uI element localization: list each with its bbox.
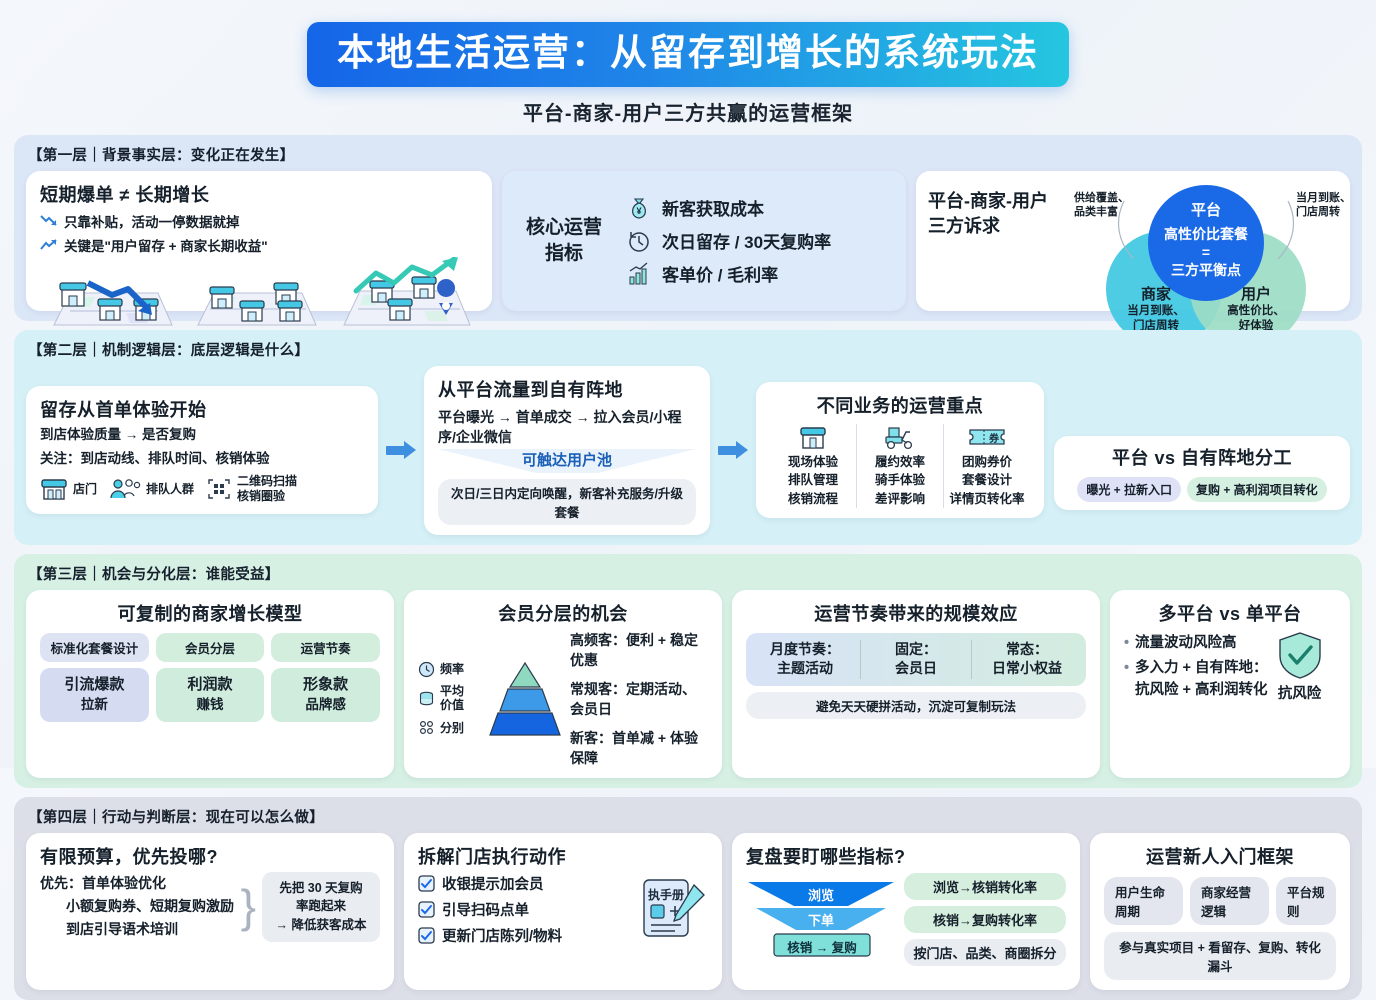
metric-item: 客单价 / 毛利率 xyxy=(626,261,831,287)
storefront-icon xyxy=(774,424,852,450)
rhythm-fixed-bottom: 会员日 xyxy=(861,659,971,679)
checkbox-checked-icon[interactable] xyxy=(418,875,435,892)
page-subtitle: 平台-商家-用户三方共赢的运营框架 xyxy=(14,97,1362,126)
layer-4-label: 【第四层｜行动与判断层：现在可以怎么做】 xyxy=(26,803,1350,833)
shield-block: 抗风险 xyxy=(1276,630,1324,703)
review-pill-1: 浏览→核销转化率 xyxy=(904,873,1066,900)
rhythm-strip: 月度节奏： 主题活动 固定： 会员日 常态： 日常小权益 xyxy=(746,633,1086,686)
layer-2-row: 留存从首单体验开始 到店体验质量 → 是否复购 关注：到店动线、排队时间、核销体… xyxy=(26,366,1350,535)
focus-delivery-line1: 履约效率 xyxy=(861,453,939,471)
qr-label-line2: 核销圈验 xyxy=(237,489,297,504)
venn-note-right-line2: 门店周转 xyxy=(1296,205,1351,220)
budget-line-2: 小额复购券、短期复购激励 xyxy=(40,895,235,918)
review-funnel: 浏览 下单 核销 → 复购 xyxy=(746,880,896,958)
venn-center-text: 高性价比套餐 = 三方平衡点 xyxy=(1164,225,1248,280)
funnel-stage-verify-repurchase: 核销 → 复购 xyxy=(787,937,856,956)
page-header: 本地生活运营：从留存到增长的系统玩法 平台-商家-用户三方共赢的运营框架 xyxy=(14,0,1362,126)
growth-model-title: 可复制的商家增长模型 xyxy=(40,600,380,626)
member-key-value-line2: 价值 xyxy=(440,699,464,713)
core-metrics-card: 核心运营 指标 ¥ 新客获取成本 次日留存 / 30天复购率 xyxy=(502,171,906,311)
model-box-image: 形象款 品牌感 xyxy=(271,668,380,723)
review-card: 复盘要盯哪些指标? 浏览 下单 核销 → 复购 浏览→核销转化率 xyxy=(732,833,1080,990)
venn-center-line2: = xyxy=(1164,243,1248,261)
focus-onsite-line1: 现场体验 xyxy=(774,453,852,471)
metric-text: 新客获取成本 xyxy=(662,195,764,220)
rhythm-note: 避免天天硬拼活动，沉淀可复制玩法 xyxy=(746,692,1086,719)
venn-merchant-line1: 当月到账、 xyxy=(1127,304,1185,319)
core-metrics-label-line2: 指标 xyxy=(516,241,612,267)
member-key-frequency: 频率 xyxy=(418,661,480,678)
venn-user-title: 用户 xyxy=(1227,285,1285,305)
actions-check-item[interactable]: 收银提示加会员 xyxy=(418,873,630,894)
venn-card: 平台-商家-用户 三方诉求 平台 高性价比套餐 xyxy=(916,171,1350,311)
retention-icon-qr: 二维码扫描 核销圈验 xyxy=(206,474,297,504)
model-box-profit-top: 利润款 xyxy=(158,675,263,695)
short-term-card: 短期爆单 ≠ 长期增长 只靠补贴，活动一停数据就掉 关键是"用户留存 + 商家长… xyxy=(26,171,492,311)
trend-up-icon xyxy=(40,238,58,251)
svg-text:券: 券 xyxy=(988,432,1000,445)
rhythm-title: 运营节奏带来的规模效应 xyxy=(746,600,1086,626)
model-box-traffic-top: 引流爆款 xyxy=(42,675,147,695)
member-keys: 频率 平均 价值 分别 xyxy=(418,661,480,737)
traffic-funnel: 可触达用户池 xyxy=(438,449,696,473)
member-key-value: 平均 价值 xyxy=(418,685,480,713)
shield-caption: 抗风险 xyxy=(1278,682,1322,703)
member-tier-new: 新客：首单减 + 体验保障 xyxy=(570,728,708,768)
division-chip-repurchase: 复购 + 高利润项目转化 xyxy=(1187,477,1327,502)
layer-3-band: 【第三层｜机会与分化层：谁能受益】 可复制的商家增长模型 标准化套餐设计 会员分… xyxy=(14,554,1362,788)
review-title: 复盘要盯哪些指标? xyxy=(746,843,1066,869)
retention-icon-qr-label: 二维码扫描 核销圈验 xyxy=(237,474,297,504)
layer-1-row: 短期爆单 ≠ 长期增长 只靠补贴，活动一停数据就掉 关键是"用户留存 + 商家长… xyxy=(26,171,1350,311)
venn-center-line3: 三方平衡点 xyxy=(1164,261,1248,279)
checkbox-checked-icon[interactable] xyxy=(418,927,435,944)
qr-code-icon xyxy=(206,477,232,501)
traffic-funnel-label: 可触达用户池 xyxy=(438,449,696,470)
division-chips: 曝光 + 拉新入口 复购 + 高利润项目转化 xyxy=(1064,477,1340,502)
arrow-right-icon-1 xyxy=(386,442,416,458)
newbie-card: 运营新人入门框架 用户生命周期 商家经营逻辑 平台规则 参与真实项目 + 看留存… xyxy=(1090,833,1350,990)
venn-label: 平台-商家-用户 三方诉求 xyxy=(928,181,1060,307)
focus-columns: 现场体验 排队管理 核销流程 履约效率 骑手体验 差评影响 xyxy=(770,424,1030,507)
metric-item: ¥ 新客获取成本 xyxy=(626,195,831,221)
review-pill-2: 核销→复购转化率 xyxy=(904,906,1066,933)
short-term-bullet-1-text: 只靠补贴，活动一停数据就掉 xyxy=(64,211,240,231)
map-illustrations xyxy=(40,257,478,329)
shield-check-icon xyxy=(1276,630,1324,680)
retention-icon-store: 店门 xyxy=(40,477,97,501)
curly-brace-icon: } xyxy=(241,888,256,925)
venn-user-line1: 高性价比、 xyxy=(1227,304,1285,319)
retention-icon-queue-label: 排队人群 xyxy=(146,480,194,497)
model-tag-3: 运营节奏 xyxy=(271,633,380,662)
rhythm-monthly-top: 月度节奏： xyxy=(750,640,860,660)
page-title: 本地生活运营：从留存到增长的系统玩法 xyxy=(307,22,1069,87)
model-box-profit: 利润款 赚钱 xyxy=(156,668,265,723)
money-bag-icon: ¥ xyxy=(626,195,652,221)
retention-line-2: 关注：到店动线、排队时间、核销体验 xyxy=(40,449,364,469)
focus-card: 不同业务的运营重点 现场体验 排队管理 核销流程 xyxy=(756,382,1044,517)
traffic-flow: 平台曝光 → 首单成交 → 拉入会员/小程序/企业微信 xyxy=(438,407,696,447)
newbie-chip-3: 平台规则 xyxy=(1276,877,1336,925)
core-metrics-list: ¥ 新客获取成本 次日留存 / 30天复购率 客单 xyxy=(626,195,831,287)
rhythm-card: 运营节奏带来的规模效应 月度节奏： 主题活动 固定： 会员日 常态： 日常小权益 xyxy=(732,590,1100,778)
budget-line-1: 优先：首单体验优化 xyxy=(40,872,235,895)
venn-note-left-line2: 品类丰富 xyxy=(1074,205,1129,220)
venn-label-line2: 三方诉求 xyxy=(928,214,1060,239)
member-tier-regular: 常规客：定期活动、会员日 xyxy=(570,679,708,719)
member-key-segment-label: 分别 xyxy=(440,721,464,735)
growth-model-card: 可复制的商家增长模型 标准化套餐设计 会员分层 运营节奏 引流爆款 拉新 利润款… xyxy=(26,590,394,778)
newbie-footer-note: 参与真实项目 + 看留存、复购、转化漏斗 xyxy=(1104,932,1336,980)
division-title: 平台 vs 自有阵地分工 xyxy=(1064,444,1340,470)
focus-column-onsite: 现场体验 排队管理 核销流程 xyxy=(770,424,856,507)
funnel-stage-order: 下单 xyxy=(808,910,834,929)
retention-title: 留存从首单体验开始 xyxy=(40,396,364,422)
retention-icon-store-label: 店门 xyxy=(73,480,97,497)
multi-bullet-2-line1: 多入力 + 自有阵地： xyxy=(1135,658,1268,680)
newbie-title: 运营新人入门框架 xyxy=(1104,843,1336,869)
clock-icon xyxy=(418,661,435,678)
clock-icon xyxy=(626,228,652,254)
growth-model-boxes: 引流爆款 拉新 利润款 赚钱 形象款 品牌感 xyxy=(40,668,380,723)
actions-body: 收银提示加会员 引导扫码点单 更新门店陈列/物料 xyxy=(418,873,708,946)
venn-overlap-spacer xyxy=(1054,366,1350,428)
member-key-value-label: 平均 价值 xyxy=(440,685,464,713)
map-illustration-flat xyxy=(184,267,324,329)
budget-body: 优先：首单体验优化 小额复购券、短期复购激励 到店引导语术培训 } 先把 30 … xyxy=(40,872,380,942)
metric-text: 次日留存 / 30天复购率 xyxy=(662,228,831,253)
infographic-page: 本地生活运营：从留存到增长的系统玩法 平台-商家-用户三方共赢的运营框架 【第一… xyxy=(0,0,1376,768)
coupon-icon: 券 xyxy=(948,424,1026,450)
layer-4-band: 【第四层｜行动与判断层：现在可以怎么做】 有限预算，优先投哪? 优先：首单体验优… xyxy=(14,797,1362,1000)
core-metrics-label-line1: 核心运营 xyxy=(516,215,612,241)
layer-1-label: 【第一层｜背景事实层：变化正在发生】 xyxy=(26,141,1350,171)
budget-lines: 优先：首单体验优化 小额复购券、短期复购激励 到店引导语术培训 xyxy=(40,872,235,941)
member-tier-card: 会员分层的机会 频率 平均 价值 xyxy=(404,590,722,778)
budget-note-line1: 先把 30 天复购 xyxy=(271,879,371,898)
model-box-traffic-bottom: 拉新 xyxy=(81,697,108,712)
member-tier-body: 频率 平均 价值 分别 xyxy=(418,630,708,768)
actions-check-label: 更新门店陈列/物料 xyxy=(442,925,562,946)
member-tier-title: 会员分层的机会 xyxy=(418,600,708,626)
review-pill-3: 按门店、品类、商圈拆分 xyxy=(904,939,1066,966)
handbook-pencil-icon: 执手册 xyxy=(638,875,708,943)
multi-bullet-2-line2: 抗风险 + 高利润转化 xyxy=(1135,680,1268,702)
division-card: 平台 vs 自有阵地分工 曝光 + 拉新入口 复购 + 高利润项目转化 xyxy=(1054,436,1350,510)
venn-merchant-title: 商家 xyxy=(1127,285,1185,305)
svg-text:¥: ¥ xyxy=(636,206,641,216)
qr-label-line1: 二维码扫描 xyxy=(237,474,297,489)
venn-note-right: 当月到账、 门店周转 xyxy=(1296,191,1351,221)
member-tier-texts: 高频客：便利 + 稳定优惠 常规客：定期活动、会员日 新客：首单减 + 体验保障 xyxy=(570,630,708,768)
budget-note-line2: 率跑起来 xyxy=(271,897,371,916)
newbie-chip-2: 商家经营逻辑 xyxy=(1190,877,1269,925)
venn-user-block: 用户 高性价比、 好体验 xyxy=(1227,285,1285,334)
multi-bullet-1: 流量波动风险高 xyxy=(1124,633,1268,655)
venn-merchant-block: 商家 当月到账、 门店周转 xyxy=(1127,285,1185,334)
rhythm-col-monthly: 月度节奏： 主题活动 xyxy=(750,640,860,679)
focus-groupbuy-line2: 套餐设计 xyxy=(948,471,1026,489)
retention-icon-row: 店门 排队人群 xyxy=(40,474,364,504)
rhythm-col-fixed: 固定： 会员日 xyxy=(860,640,971,679)
layer-2-band: 【第二层｜机制逻辑层：底层逻辑是什么】 留存从首单体验开始 到店体验质量 → 是… xyxy=(14,330,1362,545)
multi-platform-card: 多平台 vs 单平台 流量波动风险高 多入力 + 自有阵地： 抗风险 + 高利润… xyxy=(1110,590,1350,778)
budget-line-3: 到店引导语术培训 xyxy=(40,918,235,941)
coins-icon xyxy=(418,690,435,707)
member-tier-high: 高频客：便利 + 稳定优惠 xyxy=(570,630,708,670)
focus-groupbuy-line3: 详情页转化率 xyxy=(948,490,1026,508)
grid-icon xyxy=(418,719,435,736)
focus-delivery-line2: 骑手体验 xyxy=(861,471,939,489)
growth-model-tags: 标准化套餐设计 会员分层 运营节奏 xyxy=(40,633,380,662)
review-metrics: 浏览→核销转化率 核销→复购转化率 按门店、品类、商圈拆分 xyxy=(904,873,1066,966)
short-term-bullet-2: 关键是"用户留存 + 商家长期收益" xyxy=(40,235,478,255)
svg-text:执手册: 执手册 xyxy=(648,887,684,902)
actions-check-item[interactable]: 更新门店陈列/物料 xyxy=(418,925,630,946)
venn-diagram: 平台 高性价比套餐 = 三方平衡点 商家 当月到账、 门店周转 用户 xyxy=(1066,181,1338,351)
venn-note-right-line1: 当月到账、 xyxy=(1296,191,1351,206)
short-term-bullet-2-text: 关键是"用户留存 + 商家长期收益" xyxy=(64,235,268,255)
arrow-right-icon-2 xyxy=(718,442,748,458)
actions-check-item[interactable]: 引导扫码点单 xyxy=(418,899,630,920)
retention-card: 留存从首单体验开始 到店体验质量 → 是否复购 关注：到店动线、排队时间、核销体… xyxy=(26,386,378,514)
model-tag-1: 标准化套餐设计 xyxy=(40,633,149,662)
model-box-image-top: 形象款 xyxy=(273,675,378,695)
checkbox-checked-icon[interactable] xyxy=(418,901,435,918)
layer-4-row: 有限预算，优先投哪? 优先：首单体验优化 小额复购券、短期复购激励 到店引导语术… xyxy=(26,833,1350,990)
multi-platform-title: 多平台 vs 单平台 xyxy=(1124,600,1336,626)
venn-note-left: 供给覆盖、 品类丰富 xyxy=(1074,191,1129,221)
core-metrics-label: 核心运营 指标 xyxy=(516,215,612,266)
rhythm-normal-top: 常态： xyxy=(972,640,1082,660)
multi-platform-bullets: 流量波动风险高 多入力 + 自有阵地： 抗风险 + 高利润转化 xyxy=(1124,630,1268,701)
multi-bullet-2: 多入力 + 自有阵地： 抗风险 + 高利润转化 xyxy=(1124,658,1268,702)
map-illustration-declining xyxy=(40,267,180,329)
budget-title: 有限预算，优先投哪? xyxy=(40,843,380,869)
metric-text: 客单价 / 毛利率 xyxy=(662,261,778,286)
rhythm-monthly-bottom: 主题活动 xyxy=(750,659,860,679)
member-pyramid xyxy=(488,661,562,737)
budget-card: 有限预算，优先投哪? 优先：首单体验优化 小额复购券、短期复购激励 到店引导语术… xyxy=(26,833,394,990)
rhythm-fixed-top: 固定： xyxy=(861,640,971,660)
focus-column-delivery: 履约效率 骑手体验 差评影响 xyxy=(856,424,943,507)
traffic-card: 从平台流量到自有阵地 平台曝光 → 首单成交 → 拉入会员/小程序/企业微信 可… xyxy=(424,366,710,535)
focus-delivery-line3: 差评影响 xyxy=(861,490,939,508)
rhythm-col-normal: 常态： 日常小权益 xyxy=(971,640,1082,679)
budget-note-line3: → 降低获客成本 xyxy=(271,916,371,935)
model-box-profit-bottom: 赚钱 xyxy=(197,697,224,712)
focus-onsite-line2: 排队管理 xyxy=(774,471,852,489)
newbie-chip-1: 用户生命周期 xyxy=(1104,877,1183,925)
model-tag-2: 会员分层 xyxy=(156,633,265,662)
actions-check-label: 引导扫码点单 xyxy=(442,899,529,920)
layer-1-band: 【第一层｜背景事实层：变化正在发生】 短期爆单 ≠ 长期增长 只靠补贴，活动一停… xyxy=(14,135,1362,321)
venn-note-left-line1: 供给覆盖、 xyxy=(1074,191,1129,206)
bar-chart-icon xyxy=(626,261,652,287)
layer-2-flow-row: 留存从首单体验开始 到店体验质量 → 是否复购 关注：到店动线、排队时间、核销体… xyxy=(26,366,1044,535)
venn-label-line1: 平台-商家-用户 xyxy=(928,189,1060,214)
actions-checklist: 收银提示加会员 引导扫码点单 更新门店陈列/物料 xyxy=(418,873,630,946)
delivery-scooter-icon xyxy=(861,424,939,450)
retention-icon-queue: 排队人群 xyxy=(109,477,194,501)
venn-center-line1: 高性价比套餐 xyxy=(1164,225,1248,243)
rhythm-normal-bottom: 日常小权益 xyxy=(972,659,1082,679)
short-term-bullet-1: 只靠补贴，活动一停数据就掉 xyxy=(40,211,478,231)
traffic-title: 从平台流量到自有阵地 xyxy=(438,376,696,402)
budget-note: 先把 30 天复购 率跑起来 → 降低获客成本 xyxy=(262,872,380,942)
actions-check-label: 收银提示加会员 xyxy=(442,873,544,894)
venn-platform-title: 平台 xyxy=(1191,199,1221,220)
layer-2-label: 【第二层｜机制逻辑层：底层逻辑是什么】 xyxy=(26,336,1350,366)
division-chip-exposure: 曝光 + 拉新入口 xyxy=(1077,477,1181,502)
member-key-frequency-label: 频率 xyxy=(440,662,464,676)
member-key-value-line1: 平均 xyxy=(440,685,464,699)
focus-groupbuy-line1: 团购券价 xyxy=(948,453,1026,471)
focus-title: 不同业务的运营重点 xyxy=(770,392,1030,418)
layer-2-left-group: 留存从首单体验开始 到店体验质量 → 是否复购 关注：到店动线、排队时间、核销体… xyxy=(26,366,1044,535)
member-key-segment: 分别 xyxy=(418,719,480,736)
model-box-traffic: 引流爆款 拉新 xyxy=(40,668,149,723)
focus-onsite-line3: 核销流程 xyxy=(774,490,852,508)
layer-3-row: 可复制的商家增长模型 标准化套餐设计 会员分层 运营节奏 引流爆款 拉新 利润款… xyxy=(26,590,1350,778)
trend-down-icon xyxy=(40,214,58,227)
storefront-icon xyxy=(40,477,68,501)
retention-line-1: 到店体验质量 → 是否复购 xyxy=(40,425,364,445)
review-body: 浏览 下单 核销 → 复购 浏览→核销转化率 核销→复购转化率 按门店、品类、商… xyxy=(746,873,1066,966)
map-illustration-growing xyxy=(328,257,478,329)
multi-platform-body: 流量波动风险高 多入力 + 自有阵地： 抗风险 + 高利润转化 抗风险 xyxy=(1124,630,1336,703)
funnel-stage-browse: 浏览 xyxy=(808,885,834,904)
traffic-note: 次日/三日内定向唤醒，新客补充服务/升级套餐 xyxy=(438,479,696,525)
metric-item: 次日留存 / 30天复购率 xyxy=(626,228,831,254)
focus-column-groupbuy: 券 团购券价 套餐设计 详情页转化率 xyxy=(943,424,1030,507)
short-term-title: 短期爆单 ≠ 长期增长 xyxy=(40,181,478,207)
actions-title: 拆解门店执行动作 xyxy=(418,843,708,869)
actions-card: 拆解门店执行动作 收银提示加会员 引导扫码点单 更新门店 xyxy=(404,833,722,990)
model-box-image-bottom: 品牌感 xyxy=(305,697,346,712)
newbie-chips: 用户生命周期 商家经营逻辑 平台规则 xyxy=(1104,877,1336,925)
layer-2-right-group: 平台 vs 自有阵地分工 曝光 + 拉新入口 复购 + 高利润项目转化 xyxy=(1054,366,1350,535)
queue-people-icon xyxy=(109,477,141,501)
layer-3-label: 【第三层｜机会与分化层：谁能受益】 xyxy=(26,560,1350,590)
